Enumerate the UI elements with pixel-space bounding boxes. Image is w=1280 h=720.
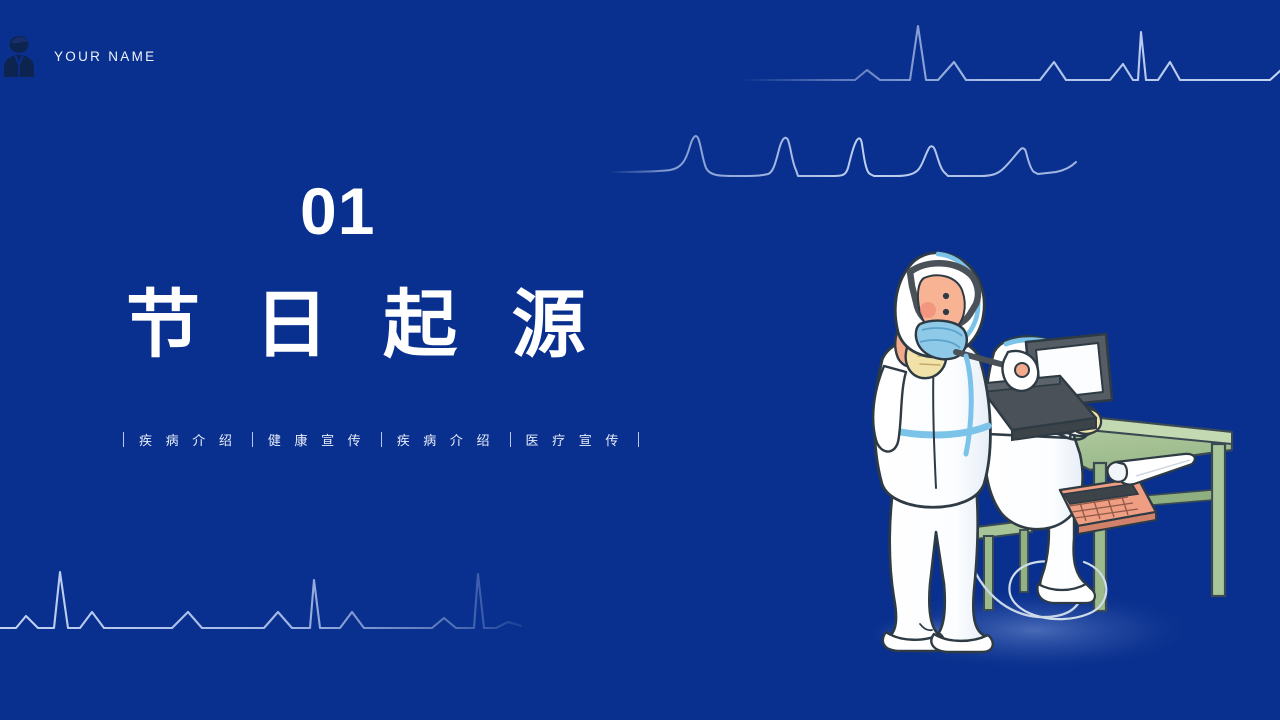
page-title: 节 日 起 源 [126,286,603,364]
blush [920,302,936,318]
ecg-middle-icon [608,124,1078,186]
ecg-bottom-icon [0,560,522,650]
medical-workers-ppe-illustration [860,232,1240,672]
section-number: 01 [300,178,375,244]
section-tag-1: 疾 病 介 绍 [137,430,239,449]
tag-separator [123,432,124,447]
tag-separator [381,432,382,447]
ecg-top-icon [740,18,1280,98]
section-tag-list: 疾 病 介 绍 健 康 宣 传 疾 病 介 绍 医 疗 宣 传 [110,430,652,449]
tag-separator [252,432,253,447]
brand-name: YOUR NAME [54,49,156,64]
slide-canvas: YOUR NAME 01 节 日 起 源 疾 病 介 绍 健 康 宣 传 疾 病… [0,0,1280,720]
section-tag-2: 健 康 宣 传 [266,430,368,449]
tag-separator [510,432,511,447]
tag-separator [638,432,639,447]
section-tag-4: 医 疗 宣 传 [524,430,626,449]
person-doctor-icon [2,34,36,78]
eye-left [943,293,949,299]
desk-leg-right [1212,444,1225,596]
section-tag-3: 疾 病 介 绍 [395,430,497,449]
slide-header: YOUR NAME [0,30,420,82]
eye-right [943,309,949,315]
